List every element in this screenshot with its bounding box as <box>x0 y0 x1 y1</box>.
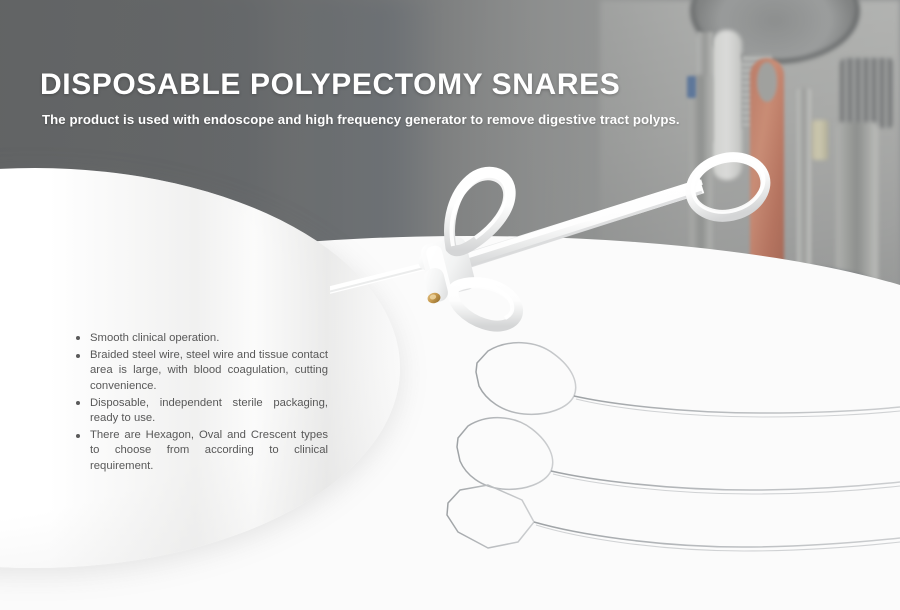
feature-text: Smooth clinical operation. <box>90 332 219 344</box>
snare-loops-illustration <box>430 320 900 600</box>
feature-item: Disposable, independent sterile packagin… <box>76 396 328 426</box>
large-oval-snare-loop <box>476 343 900 417</box>
bullet-icon <box>76 401 80 405</box>
feature-item: Braided steel wire, steel wire and tissu… <box>76 348 328 394</box>
bullet-icon <box>76 336 80 340</box>
feature-item: Smooth clinical operation. <box>76 331 328 346</box>
page-title: DISPOSABLE POLYPECTOMY SNARES <box>40 68 760 102</box>
feature-text: Disposable, independent sterile packagin… <box>90 397 328 424</box>
small-hexagon-snare-loop <box>447 485 900 551</box>
medium-oval-snare-loop <box>457 418 900 494</box>
feature-text: Braided steel wire, steel wire and tissu… <box>90 349 328 391</box>
feature-item: There are Hexagon, Oval and Crescent typ… <box>76 428 328 474</box>
feature-text: There are Hexagon, Oval and Crescent typ… <box>90 429 328 471</box>
handle-shaft <box>442 182 702 274</box>
page-subtitle: The product is used with endoscope and h… <box>42 112 742 127</box>
product-banner: DISPOSABLE POLYPECTOMY SNARES The produc… <box>0 0 900 610</box>
snare-handle-illustration <box>330 150 810 340</box>
bullet-icon <box>76 434 80 438</box>
feature-list: Smooth clinical operation. Braided steel… <box>76 331 328 476</box>
bullet-icon <box>76 354 80 358</box>
